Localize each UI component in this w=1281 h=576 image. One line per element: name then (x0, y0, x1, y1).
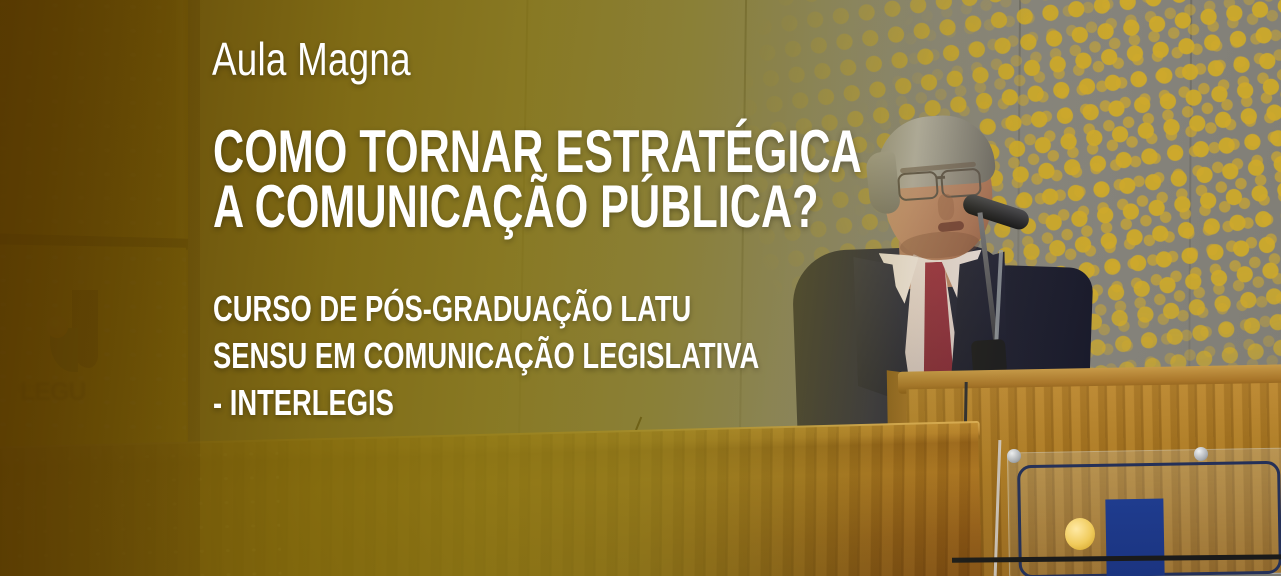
interlegis-logo-icon (48, 290, 108, 388)
subheadline-line-1: CURSO DE PÓS-GRADUAÇÃO LATU (213, 285, 759, 332)
glass-mount-stud (1194, 447, 1208, 461)
glass-mount-stud (1007, 449, 1021, 463)
blue-plaque (1105, 498, 1164, 576)
subheadline: CURSO DE PÓS-GRADUAÇÃO LATU SENSU EM COM… (213, 285, 759, 426)
headline-line-1: COMO TORNAR ESTRATÉGICA (213, 124, 862, 179)
eyeglasses-left-lens-icon (897, 171, 939, 202)
headline: COMO TORNAR ESTRATÉGICA A COMUNICAÇÃO PÚ… (213, 124, 862, 234)
desk-dot-reflection (0, 441, 282, 576)
headline-line-2: A COMUNICAÇÃO PÚBLICA? (213, 179, 862, 234)
subheadline-line-3: - INTERLEGIS (213, 379, 759, 426)
promo-banner-image: INTERLEGIS LEGU (0, 0, 1281, 576)
logo-wordmark: LEGU (20, 378, 85, 407)
wooden-desk (0, 423, 982, 576)
speaker-nose (937, 193, 955, 220)
subheadline-line-2: SENSU EM COMUNICAÇÃO LEGISLATIVA (213, 332, 759, 379)
event-kicker: Aula Magna (212, 36, 411, 82)
